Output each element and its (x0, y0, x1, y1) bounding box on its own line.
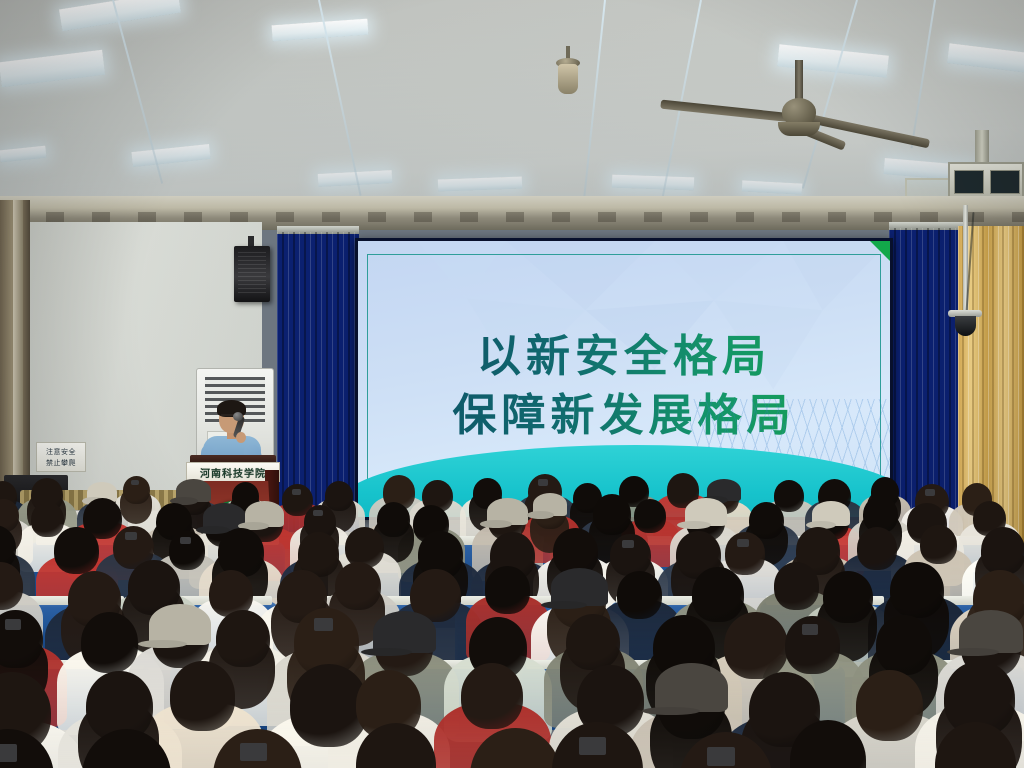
baseball-cap-icon (149, 604, 210, 645)
hair-clip-icon (240, 743, 267, 761)
hair-clip-icon (737, 539, 749, 547)
audience-member-head (485, 566, 530, 613)
audience-member-head (724, 612, 788, 679)
ceiling-haze (0, 0, 1024, 215)
audience-member-head (857, 527, 898, 570)
baseball-cap-icon (959, 610, 1024, 653)
audience-member-head (890, 562, 944, 619)
slide-headline-line1: 以新安全格局 (477, 331, 771, 382)
hair-clip-icon (313, 510, 323, 516)
baseball-cap-icon (487, 498, 528, 525)
ceiling (0, 0, 1024, 215)
audience-member-head (461, 663, 524, 729)
baseball-cap-icon (812, 501, 849, 526)
audience-member-head (54, 527, 98, 574)
baseball-cap-icon (533, 493, 567, 516)
auditorium-photo: 以新安全格局 保障新发展格局 河南科技学院 注意安全 禁止攀爬 (0, 0, 1024, 768)
hair-clip-icon (314, 618, 333, 631)
hair-clip-icon (5, 619, 21, 630)
audience-member-head (774, 562, 819, 610)
audience-member-head (823, 571, 873, 623)
audience-member-head (216, 610, 270, 667)
wall-safety-sign: 注意安全 禁止攀爬 (36, 442, 86, 472)
equipment-box-stem (975, 130, 989, 164)
baseball-cap-icon (245, 501, 284, 527)
baseball-cap-icon (176, 479, 210, 502)
security-camera-icon (955, 316, 976, 336)
equipment-box-window (954, 170, 984, 194)
wall-speaker (234, 246, 270, 302)
audience-member-head (170, 661, 236, 731)
hair-clip-icon (292, 489, 301, 495)
hair-clip-icon (0, 744, 17, 762)
hair-clip-icon (802, 624, 818, 635)
audience-member-head (856, 670, 923, 741)
hair-clip-icon (131, 480, 139, 485)
baseball-cap-icon (373, 611, 436, 653)
baseball-cap-icon (655, 663, 728, 712)
ceiling-fan-motor (778, 122, 820, 136)
equipment-box-window (990, 170, 1020, 194)
speaker-hand (236, 432, 246, 443)
baseball-cap-icon (551, 568, 608, 606)
hair-clip-icon (125, 532, 137, 540)
audience-member-head (566, 614, 620, 671)
microphone-capsule (233, 412, 243, 421)
pendant-lamp-icon (558, 64, 578, 94)
hair-clip-icon (622, 540, 634, 548)
audience-member-head (876, 615, 933, 675)
hair-clip-icon (707, 747, 735, 766)
ceiling-fan-rod (795, 60, 803, 102)
audience (0, 470, 1024, 768)
audience-member-head (325, 481, 353, 511)
audience-member-head (81, 612, 139, 673)
audience-member-head (345, 527, 384, 568)
slide-corner-accent (869, 241, 890, 262)
hair-clip-icon (579, 737, 606, 755)
audience-member-head (920, 525, 957, 564)
hair-clip-icon (538, 479, 548, 486)
audience-member-head (335, 562, 381, 611)
wall-sign-line1: 注意安全 (46, 447, 76, 457)
audience-member-head (377, 502, 410, 537)
audience-member-head (634, 499, 666, 533)
hair-clip-icon (180, 537, 191, 544)
audience-member-head (31, 502, 64, 537)
hair-clip-icon (925, 489, 935, 496)
audience-member-head (617, 571, 662, 618)
wall-sign-line2: 禁止攀爬 (46, 458, 76, 468)
audience-member-head (692, 567, 744, 622)
audience-member-head (593, 494, 631, 534)
audience-member-head (981, 527, 1024, 574)
baseball-cap-icon (685, 498, 727, 526)
